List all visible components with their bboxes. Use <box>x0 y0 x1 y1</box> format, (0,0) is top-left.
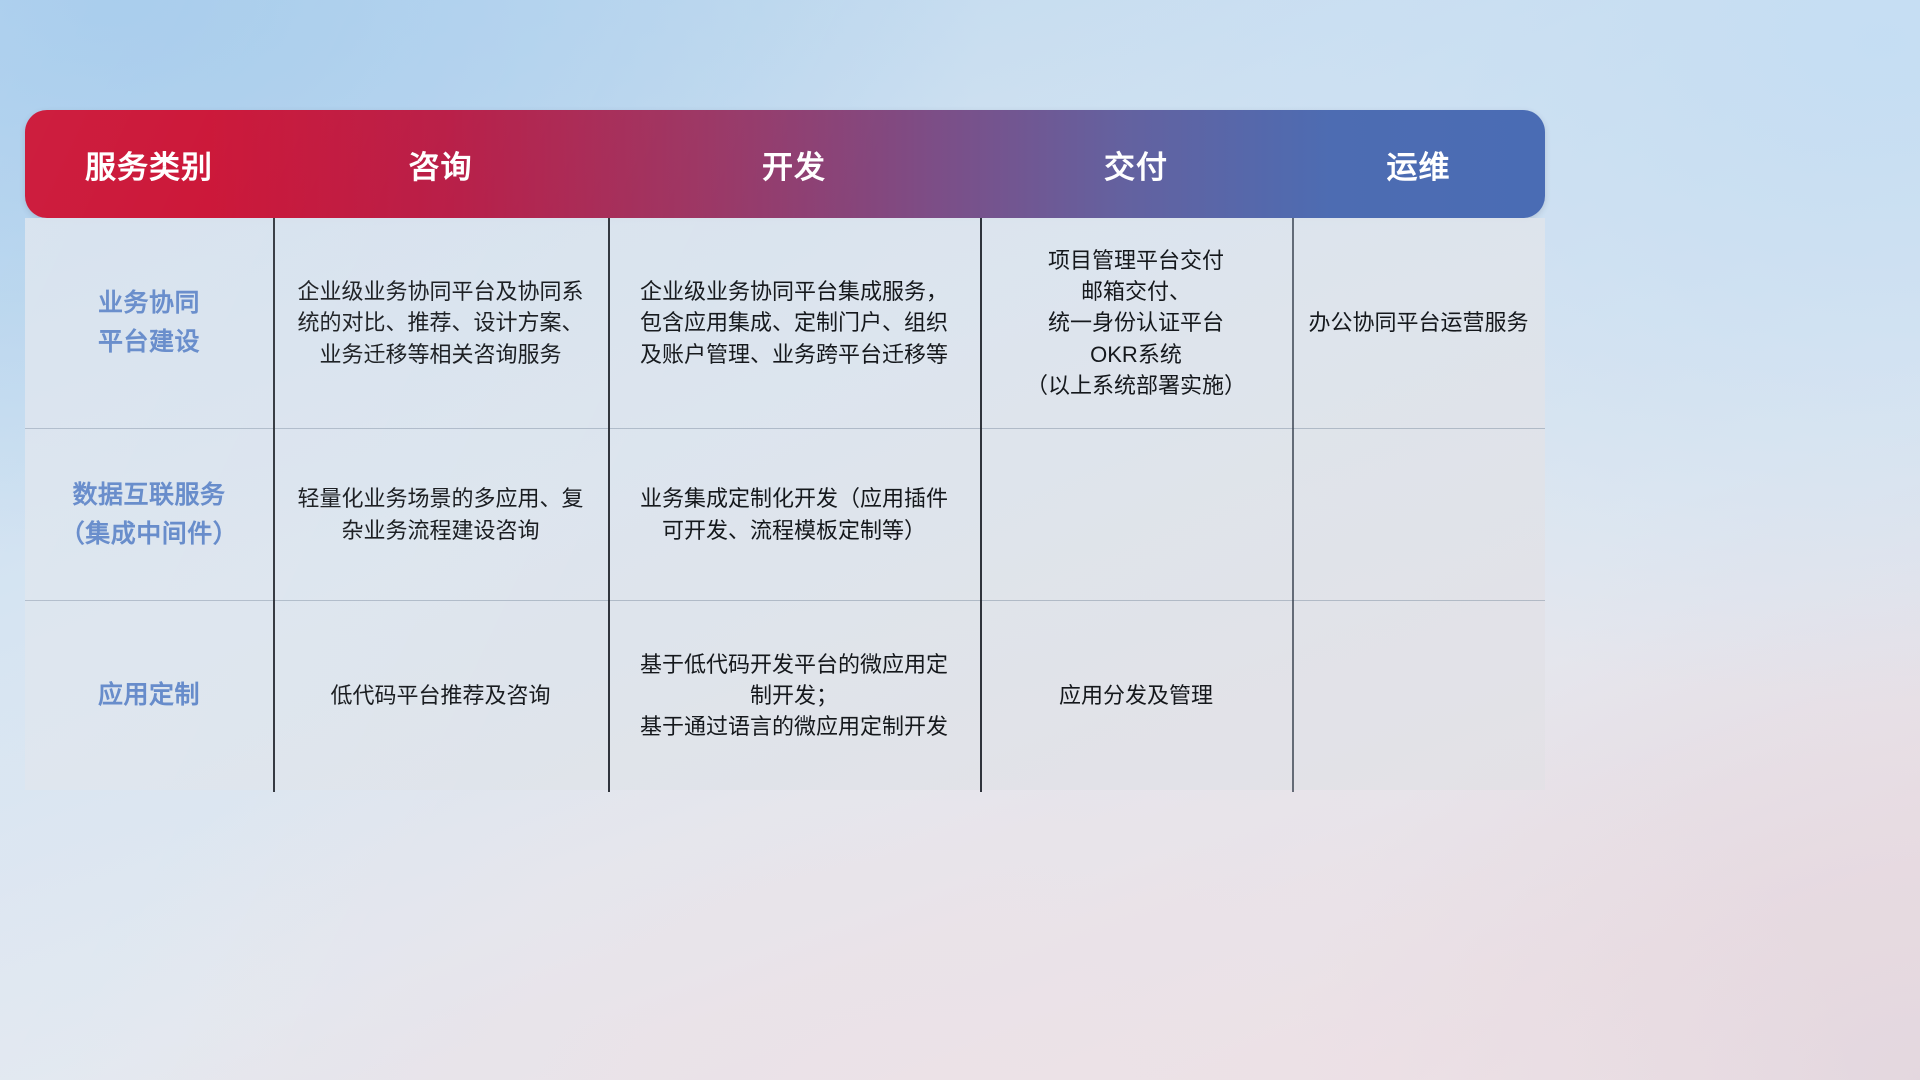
column-divider-1 <box>273 218 275 792</box>
cell-development-r2: 业务集成定制化开发（应用插件 可开发、流程模板定制等） <box>608 429 980 600</box>
column-divider-3 <box>980 218 982 792</box>
slide-canvas: 服务类别 咨询 开发 交付 运维 业务协同 平台建设 企业级业务协同平台及协同系… <box>0 0 1920 1080</box>
cell-development-r1: 企业级业务协同平台集成服务， 包含应用集成、定制门户、组织 及账户管理、业务跨平… <box>608 218 980 428</box>
column-divider-2 <box>608 218 610 792</box>
row-label-business-collaboration: 业务协同 平台建设 <box>25 218 273 428</box>
table-row: 业务协同 平台建设 企业级业务协同平台及协同系 统的对比、推荐、设计方案、 业务… <box>25 218 1545 428</box>
table-header-row: 服务类别 咨询 开发 交付 运维 <box>25 110 1545 218</box>
column-header-category: 服务类别 <box>25 142 273 187</box>
service-matrix-table: 服务类别 咨询 开发 交付 运维 业务协同 平台建设 企业级业务协同平台及协同系… <box>25 110 1545 790</box>
cell-delivery-r2 <box>980 429 1292 600</box>
cell-consulting-r3: 低代码平台推荐及咨询 <box>273 601 608 790</box>
column-header-delivery: 交付 <box>980 142 1292 187</box>
column-header-consulting: 咨询 <box>273 142 608 187</box>
cell-consulting-r1: 企业级业务协同平台及协同系 统的对比、推荐、设计方案、 业务迁移等相关咨询服务 <box>273 218 608 428</box>
column-divider-4 <box>1292 218 1294 792</box>
cell-operations-r3 <box>1292 601 1545 790</box>
column-header-development: 开发 <box>608 142 980 187</box>
cell-delivery-r3: 应用分发及管理 <box>980 601 1292 790</box>
cell-operations-r2 <box>1292 429 1545 600</box>
row-label-data-interconnect: 数据互联服务 （集成中间件） <box>25 429 273 600</box>
cell-consulting-r2: 轻量化业务场景的多应用、复 杂业务流程建设咨询 <box>273 429 608 600</box>
cell-development-r3: 基于低代码开发平台的微应用定 制开发； 基于通过语言的微应用定制开发 <box>608 601 980 790</box>
table-body: 业务协同 平台建设 企业级业务协同平台及协同系 统的对比、推荐、设计方案、 业务… <box>25 218 1545 790</box>
cell-operations-r1: 办公协同平台运营服务 <box>1292 218 1545 428</box>
table-row: 数据互联服务 （集成中间件） 轻量化业务场景的多应用、复 杂业务流程建设咨询 业… <box>25 428 1545 600</box>
row-label-app-customization: 应用定制 <box>25 601 273 790</box>
cell-delivery-r1: 项目管理平台交付 邮箱交付、 统一身份认证平台 OKR系统 （以上系统部署实施） <box>980 218 1292 428</box>
table-row: 应用定制 低代码平台推荐及咨询 基于低代码开发平台的微应用定 制开发； 基于通过… <box>25 600 1545 790</box>
column-header-operations: 运维 <box>1292 142 1545 187</box>
